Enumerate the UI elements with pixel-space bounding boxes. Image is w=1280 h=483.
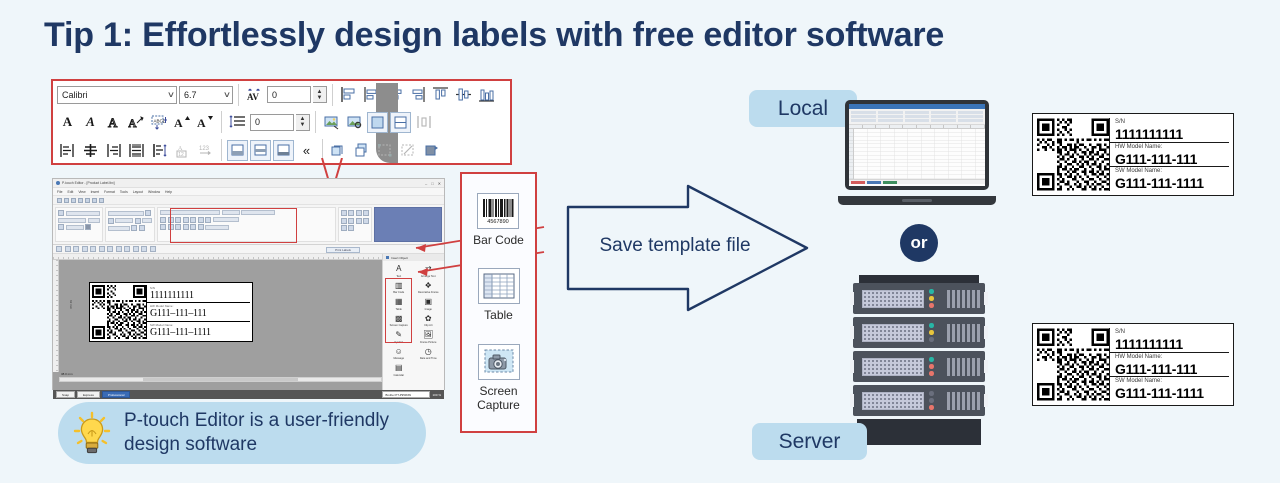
status-tab-snap[interactable]: Snap	[56, 391, 75, 398]
status-leds	[929, 289, 934, 308]
menu-item[interactable]: Tools	[120, 190, 128, 194]
fit-icon[interactable]	[139, 225, 145, 231]
font-size-value: 6.7	[184, 90, 197, 100]
qr-code	[1037, 118, 1109, 191]
rect-icon[interactable]	[82, 246, 88, 252]
grow-font-icon[interactable]: A	[172, 112, 193, 133]
printer-icon[interactable]	[58, 210, 64, 216]
frame-bottom-icon[interactable]	[227, 140, 248, 161]
app-icon	[56, 181, 60, 185]
row-caption: S/N	[1115, 119, 1229, 126]
menu-item[interactable]: Help	[165, 190, 172, 194]
panel-item-decorative-frame[interactable]: ❖Decorative Frame	[414, 280, 444, 295]
row-value: 1111111111	[150, 290, 250, 301]
frame-shadow-icon[interactable]	[273, 140, 294, 161]
qr-code	[1037, 328, 1109, 401]
group-objects-icon[interactable]	[374, 140, 395, 161]
menu-item[interactable]: Format	[104, 190, 115, 194]
frame-icon: ❖	[422, 280, 435, 291]
svg-text:A: A	[197, 116, 206, 130]
panel-item-text[interactable]: AText	[384, 263, 414, 278]
label-design-object[interactable]: S/N 1111111111 HW Model Name: G111–111–1…	[89, 282, 253, 342]
bold-icon[interactable]	[160, 217, 166, 223]
row-value: G111-111-111	[1115, 151, 1229, 167]
label-row[interactable]: HW Model Name: G111–111–111	[147, 303, 250, 321]
label-row: SW Model Name: G111-111-1111	[1110, 377, 1229, 401]
label-row: S/N 1111111111	[1110, 118, 1229, 143]
align-middle-icon[interactable]	[453, 84, 474, 105]
open-icon[interactable]	[64, 198, 69, 203]
row-value: G111-111-111	[1115, 361, 1229, 377]
rack-unit	[853, 351, 985, 382]
ribbon-preview-pane	[374, 207, 442, 242]
row-caption: SW Model Name:	[1115, 378, 1229, 385]
server-tag: Server	[752, 423, 867, 460]
vent-grille	[862, 290, 924, 308]
message-icon: ☺	[392, 346, 405, 357]
callout-item-screen-capture[interactable]: Screen Capture	[462, 344, 535, 412]
line-spacing-value[interactable]: 0	[250, 114, 294, 131]
table-icon	[478, 268, 520, 304]
vent-grille	[862, 324, 924, 342]
rotate-obj-icon[interactable]	[341, 225, 347, 231]
font-size-dropdown[interactable]: 6.7 ∨	[179, 86, 233, 104]
orientation-chip[interactable]	[108, 226, 130, 231]
divider	[315, 111, 316, 133]
bring-forward-icon[interactable]	[328, 140, 349, 161]
status-leds	[929, 357, 934, 376]
tip-text: P-touch Editor is a user-friendly design…	[124, 409, 389, 457]
status-right[interactable]: Brother PT-P950NW 100 %	[382, 391, 441, 398]
align4-icon[interactable]	[363, 210, 369, 216]
line-spacing-stepper[interactable]: ▲▼	[296, 114, 310, 131]
divider	[221, 111, 222, 133]
server-rack-illustration	[853, 275, 985, 455]
text-icon: A	[392, 263, 405, 274]
label-row[interactable]: SW Model Name: G111–111–1111	[147, 322, 250, 339]
menu-bar[interactable]: File Edit View Insert Format Tools Layou…	[53, 188, 444, 196]
frame-middle-icon[interactable]	[250, 140, 271, 161]
or-badge: or	[900, 224, 938, 262]
barcode-icon: 4567890	[477, 193, 519, 229]
print-chip[interactable]	[66, 225, 84, 230]
lightbulb-icon	[72, 410, 112, 456]
svg-text:A: A	[108, 115, 118, 130]
rotate-object-icon[interactable]	[420, 140, 441, 161]
shrink-font-icon[interactable]: A	[195, 112, 216, 133]
drive-bays	[947, 324, 980, 342]
text-tool-icon[interactable]	[65, 246, 71, 252]
paper-format-chip[interactable]	[108, 211, 144, 216]
label-row: HW Model Name: G111-111-111	[1110, 143, 1229, 168]
row-value: G111-111-1111	[1115, 385, 1229, 401]
svg-text:12: 12	[178, 152, 184, 158]
align-left-object-icon[interactable]	[338, 84, 359, 105]
panel-item-image[interactable]: ▣Image	[414, 296, 444, 311]
margin-icon[interactable]	[135, 218, 141, 224]
tape-width-label: 62 mm	[69, 300, 73, 309]
svg-text:AV: AV	[247, 92, 259, 102]
tip-callout: P-touch Editor is a user-friendly design…	[58, 402, 426, 464]
panel-item-label: Arrange Text	[421, 275, 436, 278]
quick-access-toolbar[interactable]	[53, 196, 444, 204]
distribute-horizontal-icon[interactable]	[476, 84, 497, 105]
divider	[238, 84, 239, 106]
screen-capture-icon	[478, 344, 520, 380]
panel-item-label: Frame Picture	[420, 341, 436, 344]
divider	[322, 139, 323, 161]
send-backward-icon[interactable]	[351, 140, 372, 161]
laptop-base	[838, 196, 996, 205]
callout-item-label: Screen Capture	[462, 384, 535, 412]
ribbon[interactable]	[53, 204, 444, 245]
panel-icon	[386, 256, 389, 259]
print-labels-button[interactable]: Print Labels	[326, 247, 360, 253]
vent-grille	[862, 392, 924, 410]
panel-titlebar: Insert Object	[383, 254, 444, 261]
window-controls[interactable]: –□✕	[425, 181, 441, 186]
panel-item-label: Image	[425, 308, 432, 311]
split-frame-icon[interactable]	[390, 112, 411, 133]
drawing-toolbar[interactable]: Print Labels	[53, 245, 444, 254]
cut-icon[interactable]	[99, 198, 104, 203]
printer-selector[interactable]: Brother PT-P950NW	[382, 391, 430, 398]
drive-bays	[947, 290, 980, 308]
label-rows: S/N 1111111111 HW Model Name: G111-111-1…	[1109, 328, 1229, 401]
svg-text:4567890: 4567890	[488, 219, 509, 225]
row-value: G111–111–1111	[150, 327, 250, 338]
status-leds	[929, 323, 934, 342]
ellipse-icon[interactable]	[90, 246, 96, 252]
align-left-icon[interactable]	[160, 224, 166, 230]
zoom-level[interactable]: 100 %	[432, 393, 441, 397]
drive-bays	[947, 392, 980, 410]
font-name-value: Calibri	[62, 90, 88, 100]
chevron-down-icon: ∨	[167, 90, 175, 99]
label-row: S/N 1111111111	[1110, 328, 1229, 353]
row-value: 1111111111	[1115, 126, 1229, 142]
text-justify-icon[interactable]	[126, 140, 147, 161]
row-value: G111–111–111	[150, 308, 250, 319]
rack-base	[857, 419, 981, 445]
callout-item-bar-code[interactable]: 4567890 Bar Code	[473, 193, 524, 247]
select-icon[interactable]	[56, 246, 62, 252]
tip-line-1: P-touch Editor is a user-friendly	[124, 409, 389, 433]
text-align-right-icon[interactable]	[103, 140, 124, 161]
toolbar-zoom-callout: Calibri ∨ 6.7 ∨ AV 0 ▲▼	[51, 79, 512, 165]
text-align-center-icon[interactable]	[80, 140, 101, 161]
paper-icon[interactable]	[145, 210, 151, 216]
rack-unit	[853, 385, 985, 416]
menu-item[interactable]: Layout	[133, 190, 143, 194]
image-icon: ▣	[422, 296, 435, 307]
panel-item-date-time[interactable]: ◷Date and Time	[414, 346, 444, 361]
panel-title: Insert Object	[391, 256, 408, 260]
slide-canvas: Tip 1: Effortlessly design labels with f…	[0, 0, 1280, 483]
panel-highlight-box	[385, 278, 412, 343]
laptop-screen	[849, 104, 985, 186]
back-icon[interactable]	[363, 218, 369, 224]
text-direction-icon[interactable]	[149, 140, 170, 161]
calendar-icon: ▤	[392, 362, 405, 373]
table-tool-icon[interactable]	[99, 246, 105, 252]
new-icon[interactable]	[57, 198, 62, 203]
canvas-coordinate-readout: 38.0 mm	[61, 372, 73, 376]
chevron-down-icon: ∨	[223, 90, 231, 99]
insert-image-icon[interactable]	[321, 112, 342, 133]
printed-label-card: S/N 1111111111 HW Model Name: G111-111-1…	[1032, 323, 1234, 406]
horizontal-scrollbar[interactable]	[59, 377, 382, 382]
undo-icon[interactable]	[85, 198, 90, 203]
row-caption: S/N	[1115, 329, 1229, 336]
panel-item-message[interactable]: ☺Message	[384, 346, 414, 361]
menu-item[interactable]: File	[57, 190, 62, 194]
print-icon[interactable]	[58, 224, 64, 230]
menu-item[interactable]: Window	[148, 190, 160, 194]
svg-text:123: 123	[199, 146, 210, 152]
callout-item-label: Table	[484, 308, 513, 322]
rack-unit	[853, 283, 985, 314]
print-options-icon[interactable]	[85, 224, 91, 230]
scrollbar-thumb[interactable]	[143, 378, 297, 381]
align-right-icon[interactable]	[407, 84, 428, 105]
rack-top	[859, 275, 979, 283]
rotate-icon[interactable]	[131, 225, 137, 231]
line-icon[interactable]	[73, 246, 79, 252]
length-icon[interactable]	[108, 218, 114, 224]
laptop-lid	[845, 100, 989, 190]
status-bar[interactable]: Snap Express Professional Brother PT-P95…	[53, 390, 444, 399]
toolbar-highlight-box	[170, 208, 297, 243]
laptop-illustration	[838, 100, 996, 205]
align-objects-icon[interactable]	[341, 210, 347, 216]
size-chip[interactable]	[88, 218, 100, 223]
clipart-tool-icon[interactable]	[124, 246, 130, 252]
image-properties-icon[interactable]	[344, 112, 365, 133]
panel-item-calendar[interactable]: ▤Calendar	[384, 362, 414, 377]
italic-text-icon[interactable]: A	[80, 112, 101, 133]
front-icon[interactable]	[356, 218, 362, 224]
page-title: Tip 1: Effortlessly design labels with f…	[44, 16, 944, 55]
margin-chip[interactable]	[142, 218, 152, 223]
window-titlebar: P-touch Editor - [Product Label.lbx] –□✕	[53, 179, 444, 188]
font-name-dropdown[interactable]: Calibri ∨	[57, 86, 177, 104]
align2-icon[interactable]	[348, 210, 354, 216]
label-row: SW Model Name: G111-111-1111	[1110, 167, 1229, 191]
panel-item-label: Decorative Frame	[418, 291, 439, 294]
spreadsheet-grid	[849, 129, 985, 179]
row-caption: SW Model Name:	[1115, 168, 1229, 175]
label-canvas[interactable]: 62 mm	[59, 260, 382, 372]
svg-text:ABCD: ABCD	[154, 119, 167, 124]
status-tab-professional[interactable]: Professional	[102, 391, 131, 398]
clip-art-icon: ✿	[422, 313, 435, 324]
window-title: P-touch Editor - [Product Label.lbx]	[62, 181, 115, 185]
drive-bays	[947, 358, 980, 376]
status-leds	[929, 391, 934, 410]
panel-item-clip-art[interactable]: ✿Clip Art	[414, 313, 444, 328]
row-caption: HW Model Name:	[1115, 354, 1229, 361]
text-align-left-icon[interactable]	[57, 140, 78, 161]
ribbon-group-arrange[interactable]	[338, 207, 373, 242]
qr-code	[92, 285, 146, 339]
panel-item-label: Message	[393, 357, 404, 360]
bold-text-icon[interactable]: A	[57, 112, 78, 133]
distribute-columns-icon[interactable]	[413, 112, 434, 133]
insert-object-panel[interactable]: Insert Object AText ⇄Arrange Text ▥Bar C…	[382, 254, 444, 390]
menu-item[interactable]: View	[78, 190, 85, 194]
row-caption: HW Model Name:	[1115, 144, 1229, 151]
row-value: 1111111111	[1115, 336, 1229, 352]
panel-item-frame-picture[interactable]: 🖼Frame Picture	[414, 329, 444, 344]
divider	[221, 139, 222, 161]
insert-object-callout: 4567890 Bar Code Table	[460, 172, 537, 433]
label-rows: S/N 1111111111 HW Model Name: G111-111-1…	[1109, 118, 1229, 191]
line-spacing-icon[interactable]	[227, 112, 248, 133]
divider	[332, 84, 333, 106]
align3-icon[interactable]	[356, 210, 362, 216]
menu-item[interactable]: Insert	[91, 190, 99, 194]
ungroup-icon[interactable]	[348, 218, 354, 224]
serialize-icon[interactable]: 123	[195, 140, 216, 161]
panel-item-label: Date and Time	[420, 357, 437, 360]
kerning-icon[interactable]: AV	[244, 84, 265, 105]
menu-item[interactable]: Edit	[67, 190, 73, 194]
label-rows: S/N 1111111111 HW Model Name: G111–111–1…	[146, 285, 250, 339]
editor-body: 62 mm	[53, 254, 444, 390]
flip-icon[interactable]	[348, 225, 354, 231]
length-chip[interactable]	[115, 218, 133, 223]
svg-text:A: A	[128, 116, 137, 130]
capture-tool-icon[interactable]	[150, 246, 156, 252]
canvas-area[interactable]: 62 mm	[53, 254, 382, 390]
text-effects-icon[interactable]: A	[126, 112, 147, 133]
outline-text-icon[interactable]: A	[103, 112, 124, 133]
spreadsheet-ribbon	[849, 109, 985, 125]
panel-item-label: Calendar	[393, 374, 404, 377]
status-tab-express[interactable]: Express	[77, 391, 100, 398]
tip-line-2: design software	[124, 433, 389, 457]
image-tool-icon[interactable]	[116, 246, 122, 252]
ribbon-group-printer[interactable]	[55, 207, 103, 242]
ribbon-group-paper[interactable]	[105, 207, 156, 242]
group-icon[interactable]	[341, 218, 347, 224]
label-row[interactable]: S/N 1111111111	[147, 285, 250, 303]
kerning-stepper[interactable]: ▲▼	[313, 86, 327, 103]
printer-name-chip[interactable]	[66, 211, 100, 216]
rack-unit	[853, 317, 985, 348]
numbering-field-icon[interactable]: A12	[172, 140, 193, 161]
panel-item-label: Clip Art	[424, 324, 432, 327]
frame-tool-icon[interactable]	[141, 246, 147, 252]
print-icon[interactable]	[78, 198, 83, 203]
ungroup-objects-icon[interactable]	[397, 140, 418, 161]
media-chip[interactable]	[58, 218, 86, 223]
frame-picture-icon: 🖼	[422, 329, 435, 340]
printed-label-card: S/N 1111111111 HW Model Name: G111-111-1…	[1032, 113, 1234, 196]
redo-icon[interactable]	[92, 198, 97, 203]
panel-item-arrange-text[interactable]: ⇄Arrange Text	[414, 263, 444, 278]
arrange-text-icon: ⇄	[422, 263, 435, 274]
align-top-icon[interactable]	[430, 84, 451, 105]
overflow-chevron-icon[interactable]: «	[296, 140, 317, 161]
callout-item-label: Bar Code	[473, 233, 524, 247]
row-value: G111-111-1111	[1115, 175, 1229, 191]
barcode-tool-icon[interactable]	[107, 246, 113, 252]
ptouch-editor-window: P-touch Editor - [Product Label.lbx] –□✕…	[52, 178, 445, 390]
save-icon[interactable]	[71, 198, 76, 203]
svg-text:A: A	[174, 116, 183, 130]
callout-item-table[interactable]: Table	[478, 268, 520, 322]
kerning-value[interactable]: 0	[267, 86, 311, 103]
arrow-label: Save template file	[590, 235, 760, 257]
vent-grille	[862, 358, 924, 376]
fit-text-icon[interactable]: ABCD	[149, 112, 170, 133]
symbol-tool-icon[interactable]	[133, 246, 139, 252]
spreadsheet-sheet-tabs	[849, 179, 985, 184]
save-template-arrow: Save template file	[565, 183, 810, 313]
date-time-icon: ◷	[422, 346, 435, 357]
object-frame-icon[interactable]	[367, 112, 388, 133]
label-row: HW Model Name: G111-111-111	[1110, 353, 1229, 378]
